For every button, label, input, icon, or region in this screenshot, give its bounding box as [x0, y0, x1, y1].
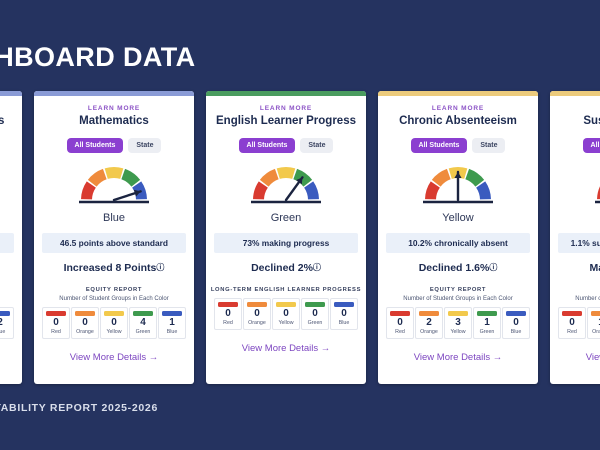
- chip-group-count: 0: [569, 318, 575, 328]
- equity-chip-green[interactable]: 0Green: [301, 298, 329, 329]
- equity-color-chip-row: 0Red0Orange1Yellow3Green2Blue: [0, 307, 14, 338]
- view-more-details-link[interactable]: View More Details →: [586, 352, 600, 363]
- chip-color-swatch: [334, 302, 354, 307]
- equity-chip-red[interactable]: 0Red: [42, 307, 70, 338]
- equity-report-title: EQUITY REPORT: [430, 287, 486, 293]
- equity-chip-yellow[interactable]: 3Yellow: [444, 307, 472, 338]
- metric-value-band: 10.2% chronically absent: [386, 233, 530, 253]
- audience-toggle-group: All StudentsState: [239, 138, 334, 153]
- page-title: DASHBOARD DATA: [0, 42, 196, 73]
- equity-report-section: EQUITY REPORTNumber of Student Groups in…: [557, 287, 600, 338]
- chip-color-label: Red: [51, 330, 61, 335]
- card-title: English Learner Progress: [216, 115, 356, 128]
- chip-color-label: Orange: [592, 330, 600, 335]
- chip-group-count: 4: [140, 318, 146, 328]
- equity-report-subtitle: Number of Student Groups in Each Color: [575, 296, 600, 302]
- view-more-details-link[interactable]: View More Details →: [414, 352, 503, 363]
- card-body: LEARN MOREMathematicsAll StudentsStateBl…: [34, 96, 194, 375]
- view-more-details-label: View More Details: [586, 352, 600, 363]
- chip-group-count: 0: [111, 318, 117, 328]
- performance-gauge: [419, 162, 497, 206]
- chip-color-label: Orange: [76, 330, 94, 335]
- learn-more-link[interactable]: LEARN MORE: [432, 105, 484, 112]
- audience-toggle-group: All StudentsState: [411, 138, 506, 153]
- chip-group-count: 1: [169, 318, 175, 328]
- chip-color-label: Yellow: [278, 321, 293, 326]
- card-body: LEARN MORESuspension RateAll StudentsSta…: [550, 96, 600, 375]
- all-students-tab[interactable]: All Students: [67, 138, 124, 153]
- card-title: Suspension Rate: [583, 115, 600, 128]
- change-indicator: Declined 2% ⓘ: [251, 262, 321, 274]
- learn-more-link[interactable]: LEARN MORE: [260, 105, 312, 112]
- equity-report-section: LONG-TERM ENGLISH LEARNER PROGRESS0Red0O…: [213, 287, 359, 329]
- chip-group-count: 0: [82, 318, 88, 328]
- chip-color-swatch: [562, 311, 582, 316]
- chip-group-count: 0: [341, 309, 347, 319]
- card-title: Chronic Absenteeism: [399, 115, 517, 128]
- card-partial-right[interactable]: LEARN MORESuspension RateAll StudentsSta…: [550, 91, 600, 384]
- equity-chip-blue[interactable]: 2Blue: [0, 307, 14, 338]
- equity-color-chip-row: 0Red2Orange3Yellow1Green0Blue: [386, 307, 530, 338]
- chip-color-swatch: [419, 311, 439, 316]
- equity-chip-orange[interactable]: 0Orange: [243, 298, 271, 329]
- equity-chip-red[interactable]: 0Red: [214, 298, 242, 329]
- change-indicator-text: Declined 1.6%: [419, 262, 490, 274]
- info-icon[interactable]: ⓘ: [489, 262, 497, 273]
- equity-chip-blue[interactable]: 0Blue: [330, 298, 358, 329]
- equity-report-section: EQUITY REPORTNumber of Student Groups in…: [0, 287, 15, 338]
- card-body: LEARN MOREChronic AbsenteeismAll Student…: [378, 96, 538, 375]
- view-more-details-label: View More Details: [70, 352, 146, 363]
- equity-chip-orange[interactable]: 1Orange: [587, 307, 600, 338]
- chip-color-swatch: [46, 311, 66, 316]
- slide-footer-text: SCHOOL ACCOUNTABILITY REPORT 2025-2026: [0, 402, 158, 414]
- chip-color-swatch: [75, 311, 95, 316]
- view-more-details-label: View More Details: [414, 352, 490, 363]
- equity-chip-green[interactable]: 4Green: [129, 307, 157, 338]
- chip-color-swatch: [218, 302, 238, 307]
- chip-color-swatch: [506, 311, 526, 316]
- equity-chip-green[interactable]: 1Green: [473, 307, 501, 338]
- chip-group-count: 0: [513, 318, 519, 328]
- chip-color-swatch: [591, 311, 600, 316]
- metric-value-band: 73% making progress: [214, 233, 358, 253]
- chip-color-label: Blue: [511, 330, 522, 335]
- chip-color-swatch: [477, 311, 497, 316]
- all-students-tab[interactable]: All Students: [583, 138, 600, 153]
- audience-toggle-group: All StudentsState: [583, 138, 600, 153]
- dashboard-data-slide: DASHBOARD DATA LEARN MOREEnglish Languag…: [0, 0, 600, 450]
- chip-color-label: Yellow: [450, 330, 465, 335]
- chip-color-swatch: [133, 311, 153, 316]
- view-more-details-link[interactable]: View More Details →: [242, 343, 331, 354]
- arrow-right-icon: →: [318, 343, 330, 354]
- chip-group-count: 0: [283, 309, 289, 319]
- equity-chip-blue[interactable]: 1Blue: [158, 307, 186, 338]
- chip-color-label: Yellow: [106, 330, 121, 335]
- metric-value-band: 46.5 points above standard: [42, 233, 186, 253]
- chip-group-count: 2: [426, 318, 432, 328]
- chip-color-label: Orange: [420, 330, 438, 335]
- chip-color-label: Blue: [0, 330, 5, 335]
- chip-group-count: 1: [484, 318, 490, 328]
- chip-group-count: 0: [254, 309, 260, 319]
- chip-color-label: Blue: [167, 330, 178, 335]
- change-indicator-text: Maintained 0%: [590, 262, 600, 274]
- performance-gauge: [75, 162, 153, 206]
- metric-value-band: 1.1% suspended at least once: [558, 233, 600, 253]
- equity-report-section: EQUITY REPORTNumber of Student Groups in…: [41, 287, 187, 338]
- change-indicator: Declined 1.6% ⓘ: [419, 262, 498, 274]
- performance-gauge: [247, 162, 325, 206]
- card-english-learner-progress[interactable]: LEARN MOREEnglish Learner ProgressAll St…: [206, 91, 366, 384]
- info-icon[interactable]: ⓘ: [156, 262, 164, 273]
- all-students-tab[interactable]: All Students: [239, 138, 296, 153]
- equity-color-chip-row: 0Red0Orange0Yellow0Green0Blue: [214, 298, 358, 329]
- all-students-tab[interactable]: All Students: [411, 138, 468, 153]
- card-title: English Language Arts: [0, 115, 4, 128]
- card-mathematics[interactable]: LEARN MOREMathematicsAll StudentsStateBl…: [34, 91, 194, 384]
- equity-report-subtitle: Number of Student Groups in Each Color: [403, 296, 512, 302]
- state-tab[interactable]: State: [472, 138, 505, 153]
- equity-chip-red[interactable]: 0Red: [558, 307, 586, 338]
- chip-color-swatch: [448, 311, 468, 316]
- equity-report-section: EQUITY REPORTNumber of Student Groups in…: [385, 287, 531, 338]
- audience-toggle-group: All StudentsState: [67, 138, 162, 153]
- chip-color-label: Blue: [339, 321, 350, 326]
- equity-chip-yellow[interactable]: 0Yellow: [100, 307, 128, 338]
- chip-color-label: Green: [480, 330, 495, 335]
- state-tab[interactable]: State: [128, 138, 161, 153]
- chip-color-swatch: [247, 302, 267, 307]
- arrow-right-icon: →: [146, 352, 158, 363]
- state-tab[interactable]: State: [300, 138, 333, 153]
- chip-color-label: Red: [395, 330, 405, 335]
- card-chronic-absenteeism[interactable]: LEARN MOREChronic AbsenteeismAll Student…: [378, 91, 538, 384]
- chip-color-swatch: [276, 302, 296, 307]
- arrow-right-icon: →: [490, 352, 502, 363]
- chip-color-label: Orange: [248, 321, 266, 326]
- card-title: Mathematics: [79, 115, 149, 128]
- chip-color-label: Green: [308, 321, 323, 326]
- gauge-color-label: Blue: [103, 212, 125, 224]
- chip-color-swatch: [390, 311, 410, 316]
- equity-color-chip-row: 0Red0Orange0Yellow4Green1Blue: [42, 307, 186, 338]
- chip-color-swatch: [0, 311, 10, 316]
- chip-color-label: Red: [223, 321, 233, 326]
- chip-color-swatch: [305, 302, 325, 307]
- equity-report-subtitle: Number of Student Groups in Each Color: [59, 296, 168, 302]
- chip-group-count: 0: [312, 309, 318, 319]
- chip-color-swatch: [162, 311, 182, 316]
- chip-color-label: Red: [567, 330, 577, 335]
- metric-card-strip: LEARN MOREEnglish Language ArtsAll Stude…: [0, 91, 600, 384]
- change-indicator-text: Declined 2%: [251, 262, 313, 274]
- equity-chip-orange[interactable]: 0Orange: [71, 307, 99, 338]
- performance-gauge: [591, 162, 600, 206]
- equity-chip-orange[interactable]: 2Orange: [415, 307, 443, 338]
- chip-group-count: 0: [225, 309, 231, 319]
- change-indicator-text: Increased 8 Points: [64, 262, 157, 274]
- metric-value-band: 58.2 points above standard: [0, 233, 14, 253]
- equity-chip-blue[interactable]: 0Blue: [502, 307, 530, 338]
- chip-group-count: 0: [53, 318, 59, 328]
- chip-color-label: Green: [136, 330, 151, 335]
- change-indicator: Increased 8 Points ⓘ: [64, 262, 165, 274]
- view-more-details-link[interactable]: View More Details →: [70, 352, 159, 363]
- change-indicator: Maintained 0% ⓘ: [590, 262, 600, 274]
- chip-group-count: 3: [455, 318, 461, 328]
- chip-group-count: 0: [397, 318, 403, 328]
- card-body: LEARN MOREEnglish Learner ProgressAll St…: [206, 96, 366, 366]
- chip-group-count: 2: [0, 318, 3, 328]
- info-icon[interactable]: ⓘ: [313, 262, 321, 273]
- view-more-details-label: View More Details: [242, 343, 318, 354]
- equity-report-title: LONG-TERM ENGLISH LEARNER PROGRESS: [211, 287, 361, 293]
- chip-color-swatch: [104, 311, 124, 316]
- equity-chip-red[interactable]: 0Red: [386, 307, 414, 338]
- equity-report-title: EQUITY REPORT: [86, 287, 142, 293]
- equity-color-chip-row: 0Red1Orange2Yellow2Green1Blue: [558, 307, 600, 338]
- gauge-color-label: Green: [271, 212, 302, 224]
- equity-chip-yellow[interactable]: 0Yellow: [272, 298, 300, 329]
- card-body: LEARN MOREEnglish Language ArtsAll Stude…: [0, 96, 22, 375]
- card-partial-left[interactable]: LEARN MOREEnglish Language ArtsAll Stude…: [0, 91, 22, 384]
- learn-more-link[interactable]: LEARN MORE: [88, 105, 140, 112]
- gauge-color-label: Yellow: [442, 212, 473, 224]
